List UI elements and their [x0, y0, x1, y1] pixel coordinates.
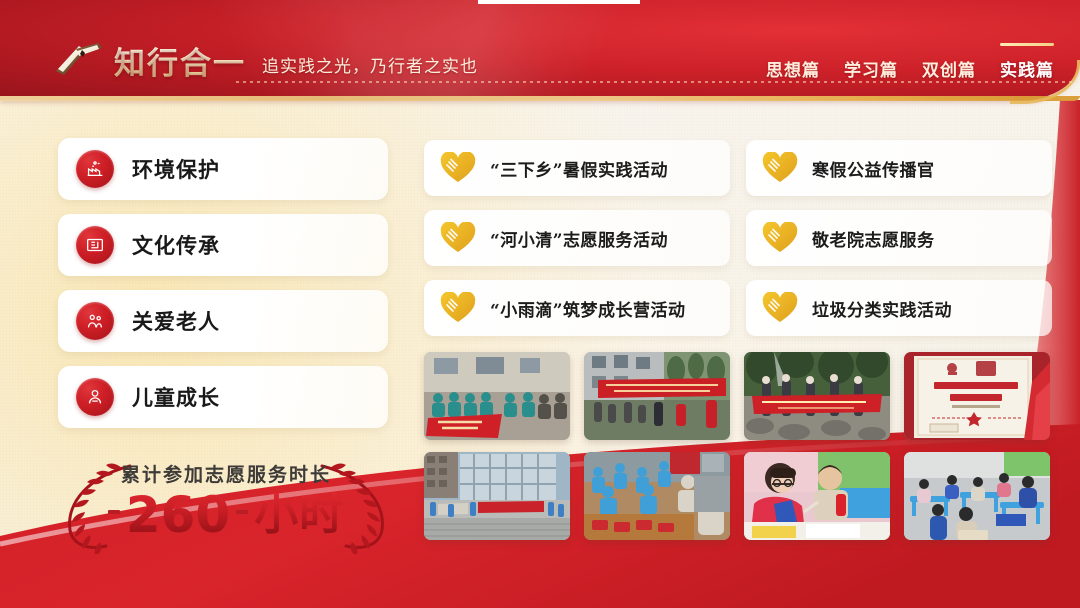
- slide-page: 知行合一 追实践之光，乃行者之实也 思想篇 学习篇 双创篇 实践篇 环境保护: [0, 0, 1080, 608]
- volunteer-hours-stat: 累计参加志愿服务时长 260 小时: [56, 452, 396, 560]
- gallery-photo-classroom[interactable]: [904, 452, 1050, 540]
- handshake-heart-icon: [440, 292, 476, 324]
- open-book-icon: [52, 41, 104, 81]
- factory-icon: [76, 150, 114, 188]
- handshake-heart-icon: [762, 222, 798, 254]
- activity-item-xiaoyudi[interactable]: “小雨滴”筑梦成长营活动: [424, 280, 730, 336]
- activity-label: 垃圾分类实践活动: [812, 296, 952, 321]
- stat-dash-left: [108, 510, 120, 514]
- gallery-photo-group-banner[interactable]: [424, 352, 570, 440]
- activity-label: 敬老院志愿服务: [812, 226, 935, 251]
- category-label: 关爱老人: [132, 306, 220, 336]
- activity-item-jinglaoyuan[interactable]: 敬老院志愿服务: [746, 210, 1052, 266]
- nav-tab-sixiang[interactable]: 思想篇: [764, 54, 822, 89]
- gallery-photo-tutoring[interactable]: [744, 452, 890, 540]
- stat-dash-right: [236, 510, 248, 514]
- activity-item-hexiaoqing[interactable]: “河小清”志愿服务活动: [424, 210, 730, 266]
- activity-label: “河小清”志愿服务活动: [490, 226, 668, 251]
- stat-title: 累计参加志愿服务时长: [56, 460, 396, 487]
- nav-tab-xuexi[interactable]: 学习篇: [842, 54, 900, 89]
- gallery-photo-community-event[interactable]: [584, 352, 730, 440]
- stat-value: 260: [126, 490, 230, 540]
- nav-tab-shijian[interactable]: 实践篇: [998, 54, 1056, 89]
- elderly-care-icon: [76, 302, 114, 340]
- gallery-photo-certificate[interactable]: [904, 352, 1050, 440]
- activity-label: 寒假公益传播官: [812, 156, 935, 181]
- header-gold-edge: [0, 96, 1080, 101]
- gallery-photo-indoor-workshop[interactable]: [584, 452, 730, 540]
- top-white-strip: [478, 0, 640, 4]
- category-label: 文化传承: [132, 230, 220, 260]
- activity-label: “小雨滴”筑梦成长营活动: [490, 296, 686, 321]
- category-item-children[interactable]: 儿童成长: [58, 366, 388, 428]
- main-nav[interactable]: 思想篇 学习篇 双创篇 实践篇: [764, 54, 1056, 89]
- page-subtitle: 追实践之光，乃行者之实也: [262, 52, 478, 77]
- activity-list: “三下乡”暑假实践活动 寒假公益传播官 “河小清”志愿服务活动: [424, 140, 1052, 336]
- gallery-photo-campus-building[interactable]: [424, 452, 570, 540]
- handshake-heart-icon: [440, 222, 476, 254]
- category-item-elderly[interactable]: 关爱老人: [58, 290, 388, 352]
- brand: 知行合一: [52, 38, 246, 83]
- stat-unit: 小时: [254, 493, 344, 537]
- activity-item-sanxiaxiang[interactable]: “三下乡”暑假实践活动: [424, 140, 730, 196]
- handshake-heart-icon: [762, 292, 798, 324]
- category-item-culture[interactable]: 文化传承: [58, 214, 388, 276]
- category-label: 环境保护: [132, 154, 220, 184]
- gallery-photo-river-volunteers[interactable]: [744, 352, 890, 440]
- activity-item-lajifenlei[interactable]: 垃圾分类实践活动: [746, 280, 1052, 336]
- category-list: 环境保护 文化传承 关爱老人: [58, 138, 388, 428]
- activity-item-hanjia[interactable]: 寒假公益传播官: [746, 140, 1052, 196]
- handshake-heart-icon: [440, 152, 476, 184]
- activity-label: “三下乡”暑假实践活动: [490, 156, 668, 181]
- category-item-environment[interactable]: 环境保护: [58, 138, 388, 200]
- category-label: 儿童成长: [132, 382, 220, 412]
- page-header: 知行合一 追实践之光，乃行者之实也 思想篇 学习篇 双创篇 实践篇: [0, 0, 1080, 100]
- handshake-heart-icon: [762, 152, 798, 184]
- page-title: 知行合一: [114, 38, 246, 83]
- child-icon: [76, 378, 114, 416]
- scroll-icon: [76, 226, 114, 264]
- photo-gallery: [424, 352, 1050, 540]
- nav-tab-shuangchuang[interactable]: 双创篇: [920, 54, 978, 89]
- stat-value-row: 260 小时: [56, 490, 396, 540]
